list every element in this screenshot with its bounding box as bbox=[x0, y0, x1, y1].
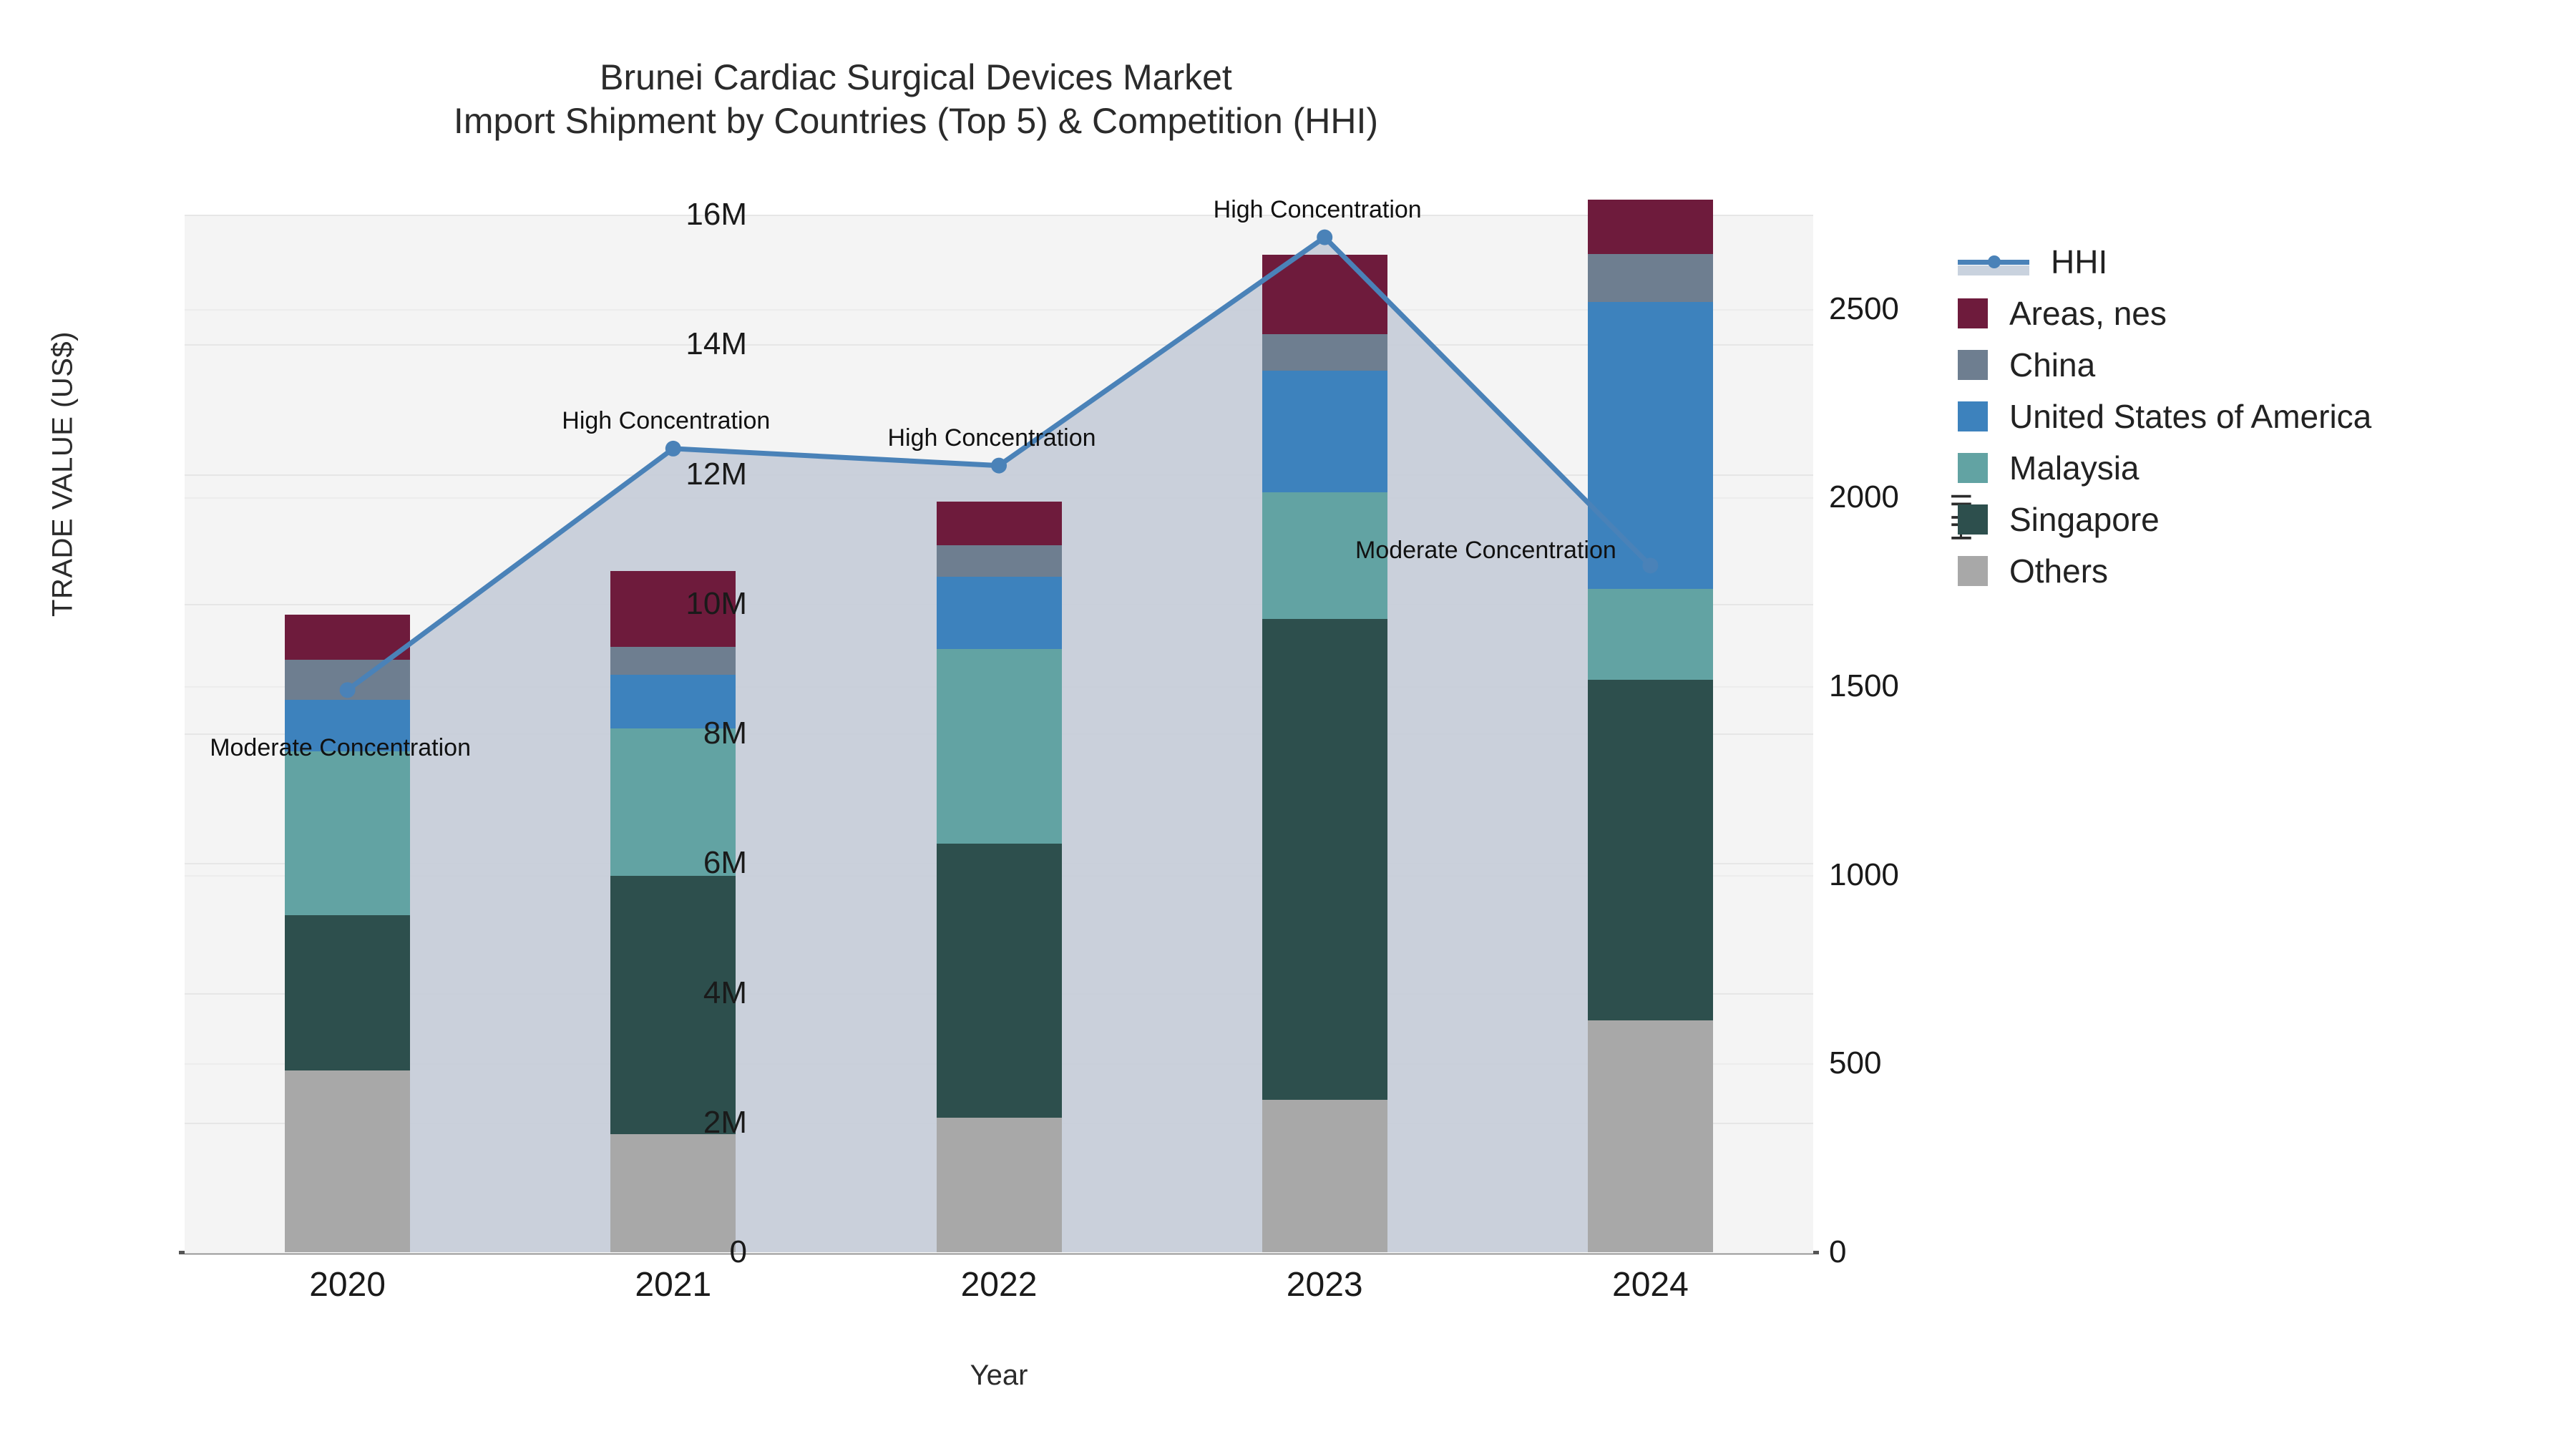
bar-segment[interactable] bbox=[285, 660, 410, 700]
legend-swatch-icon bbox=[1958, 504, 1988, 535]
bar-segment[interactable] bbox=[1588, 680, 1713, 1020]
legend-item[interactable]: HHI bbox=[1958, 236, 2371, 288]
bar-segment[interactable] bbox=[1262, 619, 1387, 1100]
y2-tick-label: 1500 bbox=[1829, 668, 2058, 704]
bar-segment[interactable] bbox=[1588, 200, 1713, 254]
bar-segment[interactable] bbox=[937, 1118, 1062, 1253]
concentration-annotation: Moderate Concentration bbox=[1355, 537, 1616, 565]
y2-tick-label: 0 bbox=[1829, 1234, 2058, 1270]
bar-segment[interactable] bbox=[610, 647, 736, 675]
concentration-annotation: High Concentration bbox=[1214, 196, 1422, 224]
y-tick-label: 14M bbox=[532, 326, 747, 362]
concentration-annotation: Moderate Concentration bbox=[210, 734, 471, 762]
y-tick-label: 8M bbox=[532, 716, 747, 751]
legend-item[interactable]: United States of America bbox=[1958, 391, 2371, 442]
legend-item[interactable]: China bbox=[1958, 339, 2371, 391]
bar-segment[interactable] bbox=[1262, 255, 1387, 334]
bar-segment[interactable] bbox=[1588, 1020, 1713, 1252]
bar-segment[interactable] bbox=[285, 751, 410, 914]
y-tick-label: 4M bbox=[532, 975, 747, 1011]
y-tick-label: 2M bbox=[532, 1105, 747, 1141]
bar-segment[interactable] bbox=[937, 649, 1062, 844]
chart-title-line1: Brunei Cardiac Surgical Devices Market bbox=[0, 56, 1832, 99]
legend-item[interactable]: Others bbox=[1958, 545, 2371, 597]
bar-stack[interactable] bbox=[1588, 215, 1713, 1252]
legend-item[interactable]: Singapore bbox=[1958, 494, 2371, 545]
chart-subtitle: Import Shipment by Countries (Top 5) & C… bbox=[0, 99, 1832, 143]
legend-line-marker-icon bbox=[1958, 247, 2029, 277]
chart-title: Brunei Cardiac Surgical Devices Market I… bbox=[0, 56, 1832, 143]
bar-segment[interactable] bbox=[1262, 371, 1387, 492]
x-tick-label: 2024 bbox=[1543, 1265, 1757, 1304]
bar-segment[interactable] bbox=[937, 577, 1062, 650]
legend-label: Others bbox=[2009, 552, 2108, 590]
legend-item[interactable]: Malaysia bbox=[1958, 442, 2371, 494]
y-tick-label: 6M bbox=[532, 845, 747, 881]
legend-label: Areas, nes bbox=[2009, 294, 2167, 333]
legend-swatch-icon bbox=[1958, 401, 1988, 431]
chart-figure: Brunei Cardiac Surgical Devices Market I… bbox=[0, 0, 2576, 1449]
bar-stack[interactable] bbox=[285, 215, 410, 1252]
bar-segment[interactable] bbox=[1262, 334, 1387, 371]
x-tick-label: 2022 bbox=[892, 1265, 1106, 1304]
legend-label: Malaysia bbox=[2009, 449, 2140, 487]
bar-segment[interactable] bbox=[937, 502, 1062, 546]
legend-label: HHI bbox=[2051, 243, 2107, 281]
legend-label: China bbox=[2009, 346, 2095, 384]
bar-segment[interactable] bbox=[937, 545, 1062, 577]
y2-tick-label: 1000 bbox=[1829, 857, 2058, 893]
bar-segment[interactable] bbox=[937, 844, 1062, 1117]
plot-area bbox=[185, 215, 1813, 1252]
legend-swatch-icon bbox=[1958, 453, 1988, 483]
bar-stack[interactable] bbox=[1262, 215, 1387, 1252]
bar-segment[interactable] bbox=[1262, 1100, 1387, 1252]
concentration-annotation: High Concentration bbox=[887, 424, 1096, 452]
y-axis-label-left: TRADE VALUE (US$) bbox=[47, 274, 79, 675]
y-tick-label: 16M bbox=[532, 197, 747, 233]
bar-segment[interactable] bbox=[285, 915, 410, 1071]
bar-segment[interactable] bbox=[285, 1070, 410, 1252]
legend-label: United States of America bbox=[2009, 397, 2371, 436]
bar-stack[interactable] bbox=[937, 215, 1062, 1252]
bar-segment[interactable] bbox=[285, 615, 410, 660]
x-axis-label: Year bbox=[185, 1360, 1813, 1392]
legend-swatch-icon bbox=[1958, 298, 1988, 328]
y2-tick-label: 500 bbox=[1829, 1045, 2058, 1081]
x-tick-label: 2021 bbox=[566, 1265, 781, 1304]
bar-segment[interactable] bbox=[1588, 254, 1713, 302]
legend-swatch-icon bbox=[1958, 556, 1988, 586]
y-tick-label: 12M bbox=[532, 457, 747, 492]
x-tick-label: 2023 bbox=[1217, 1265, 1432, 1304]
legend-label: Singapore bbox=[2009, 500, 2160, 539]
bar-segment[interactable] bbox=[1588, 589, 1713, 680]
concentration-annotation: High Concentration bbox=[562, 407, 770, 435]
gridline-secondary bbox=[185, 1252, 1813, 1254]
legend-swatch-icon bbox=[1958, 350, 1988, 380]
chart-legend: HHIAreas, nesChinaUnited States of Ameri… bbox=[1958, 236, 2371, 597]
y-tick-label: 10M bbox=[532, 586, 747, 622]
x-tick-label: 2020 bbox=[240, 1265, 455, 1304]
legend-item[interactable]: Areas, nes bbox=[1958, 288, 2371, 339]
